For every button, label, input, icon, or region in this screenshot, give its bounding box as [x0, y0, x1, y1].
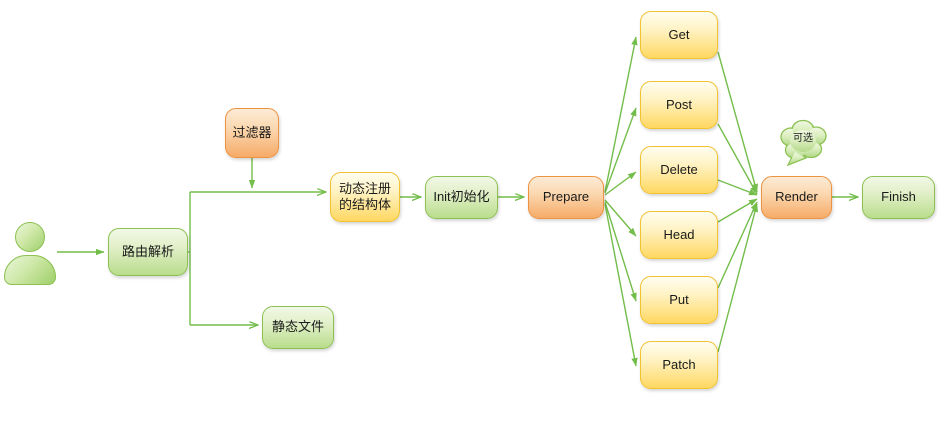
- node-label: Post: [662, 97, 696, 113]
- node-label: Get: [665, 27, 694, 43]
- node-post[interactable]: Post: [640, 81, 718, 129]
- node-head[interactable]: Head: [640, 211, 718, 259]
- edge-put-render: [718, 202, 757, 288]
- flowchart-canvas: 路由解析 过滤器 静态文件 动态注册 的结构体 Init初始化 Prepare …: [0, 0, 951, 448]
- node-label: 静态文件: [268, 319, 328, 335]
- edge-prepare-patch: [605, 204, 636, 366]
- actor-head-icon: [15, 222, 45, 252]
- node-filter[interactable]: 过滤器: [225, 108, 279, 158]
- node-delete[interactable]: Delete: [640, 146, 718, 194]
- edge-get-render: [718, 52, 757, 192]
- node-get[interactable]: Get: [640, 11, 718, 59]
- edge-prepare-put: [605, 202, 636, 301]
- node-render[interactable]: Render: [761, 176, 832, 219]
- edge-head-render: [718, 199, 757, 222]
- node-label: Init初始化: [429, 189, 493, 205]
- node-prepare[interactable]: Prepare: [528, 176, 604, 219]
- node-label: Put: [665, 292, 693, 308]
- edge-prepare-head: [605, 200, 636, 236]
- user-actor: [4, 222, 56, 285]
- node-init[interactable]: Init初始化: [425, 176, 498, 219]
- node-label: Finish: [877, 189, 920, 205]
- node-label: Head: [659, 227, 698, 243]
- edge-patch-render: [718, 204, 757, 352]
- edge-post-render: [718, 124, 757, 194]
- node-route-parse[interactable]: 路由解析: [108, 228, 188, 276]
- actor-body-icon: [4, 255, 56, 285]
- node-label: 动态注册 的结构体: [335, 181, 395, 214]
- edge-delete-render: [718, 180, 757, 195]
- node-label: 过滤器: [228, 125, 275, 141]
- edge-layer: [0, 0, 951, 448]
- optional-callout: 可选: [777, 120, 829, 162]
- node-label: Delete: [656, 162, 702, 178]
- edge-prepare-delete: [605, 172, 636, 195]
- node-label: Patch: [658, 357, 699, 373]
- node-static-file[interactable]: 静态文件: [262, 306, 334, 349]
- edge-prepare-post: [605, 108, 636, 193]
- node-patch[interactable]: Patch: [640, 341, 718, 389]
- node-put[interactable]: Put: [640, 276, 718, 324]
- optional-callout-label: 可选: [777, 129, 829, 144]
- node-label: 路由解析: [118, 244, 178, 260]
- edge-prepare-get: [605, 37, 636, 192]
- node-label: Prepare: [539, 189, 593, 205]
- node-label: Render: [771, 189, 822, 205]
- node-dynamic-register-struct[interactable]: 动态注册 的结构体: [330, 172, 400, 222]
- node-finish[interactable]: Finish: [862, 176, 935, 219]
